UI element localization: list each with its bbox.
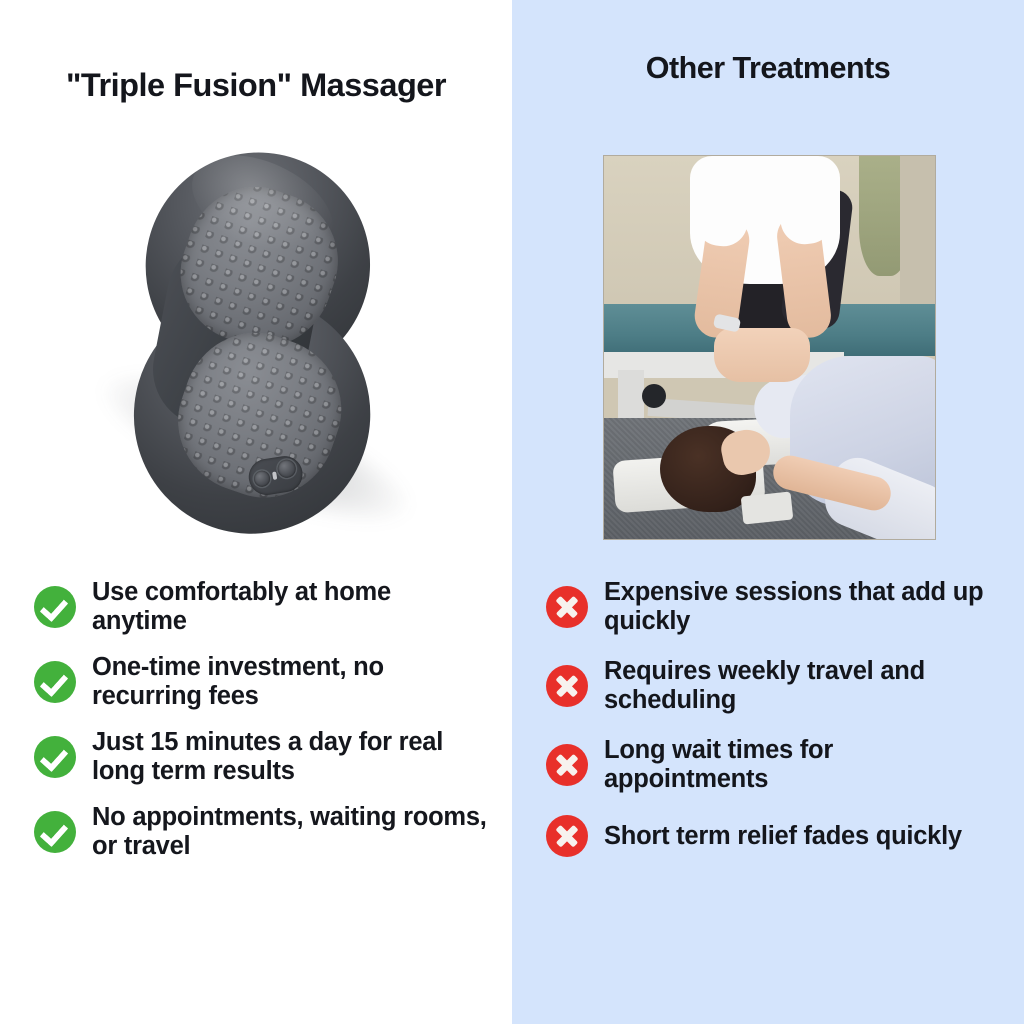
photo-wall-right xyxy=(900,156,936,306)
list-item: Expensive sessions that add up quickly xyxy=(546,578,1002,635)
right-panel-heading: Other Treatments xyxy=(512,52,1024,86)
cross-circle-icon xyxy=(546,815,588,857)
list-item: Long wait times for appointments xyxy=(546,736,1002,793)
left-panel-heading: "Triple Fusion" Massager xyxy=(0,68,512,104)
list-item: Just 15 minutes a day for real long term… xyxy=(34,728,490,785)
left-benefits-list: Use comfortably at home anytime One-time… xyxy=(0,578,512,878)
right-drawbacks-list: Expensive sessions that add up quickly R… xyxy=(512,578,1024,879)
list-item-label: One-time investment, no recurring fees xyxy=(92,653,490,710)
list-item-label: Use comfortably at home anytime xyxy=(92,578,490,635)
check-circle-icon xyxy=(34,736,76,778)
list-item-label: Requires weekly travel and scheduling xyxy=(604,657,1002,714)
comparison-infographic: "Triple Fusion" Massager Use com xyxy=(0,0,1024,1024)
left-panel-product: "Triple Fusion" Massager Use com xyxy=(0,0,512,1024)
status-led-icon xyxy=(272,471,277,480)
cross-circle-icon xyxy=(546,744,588,786)
check-circle-icon xyxy=(34,811,76,853)
list-item: Use comfortably at home anytime xyxy=(34,578,490,635)
list-item: One-time investment, no recurring fees xyxy=(34,653,490,710)
mode-button-icon xyxy=(276,458,297,479)
photo-practitioner-hands xyxy=(714,328,810,382)
check-circle-icon xyxy=(34,661,76,703)
therapy-photo xyxy=(603,155,936,540)
photo-table-knob xyxy=(642,384,666,408)
product-image xyxy=(0,140,512,550)
list-item-label: Just 15 minutes a day for real long term… xyxy=(92,728,490,785)
cross-circle-icon xyxy=(546,586,588,628)
list-item-label: No appointments, waiting rooms, or trave… xyxy=(92,803,490,860)
list-item-label: Long wait times for appointments xyxy=(604,736,1002,793)
list-item: Requires weekly travel and scheduling xyxy=(546,657,1002,714)
cross-circle-icon xyxy=(546,665,588,707)
power-button-icon xyxy=(253,470,271,488)
list-item: Short term relief fades quickly xyxy=(546,815,1002,857)
photo-support-block xyxy=(741,491,794,524)
list-item-label: Short term relief fades quickly xyxy=(604,822,962,851)
check-circle-icon xyxy=(34,586,76,628)
list-item-label: Expensive sessions that add up quickly xyxy=(604,578,1002,635)
list-item: No appointments, waiting rooms, or trave… xyxy=(34,803,490,860)
